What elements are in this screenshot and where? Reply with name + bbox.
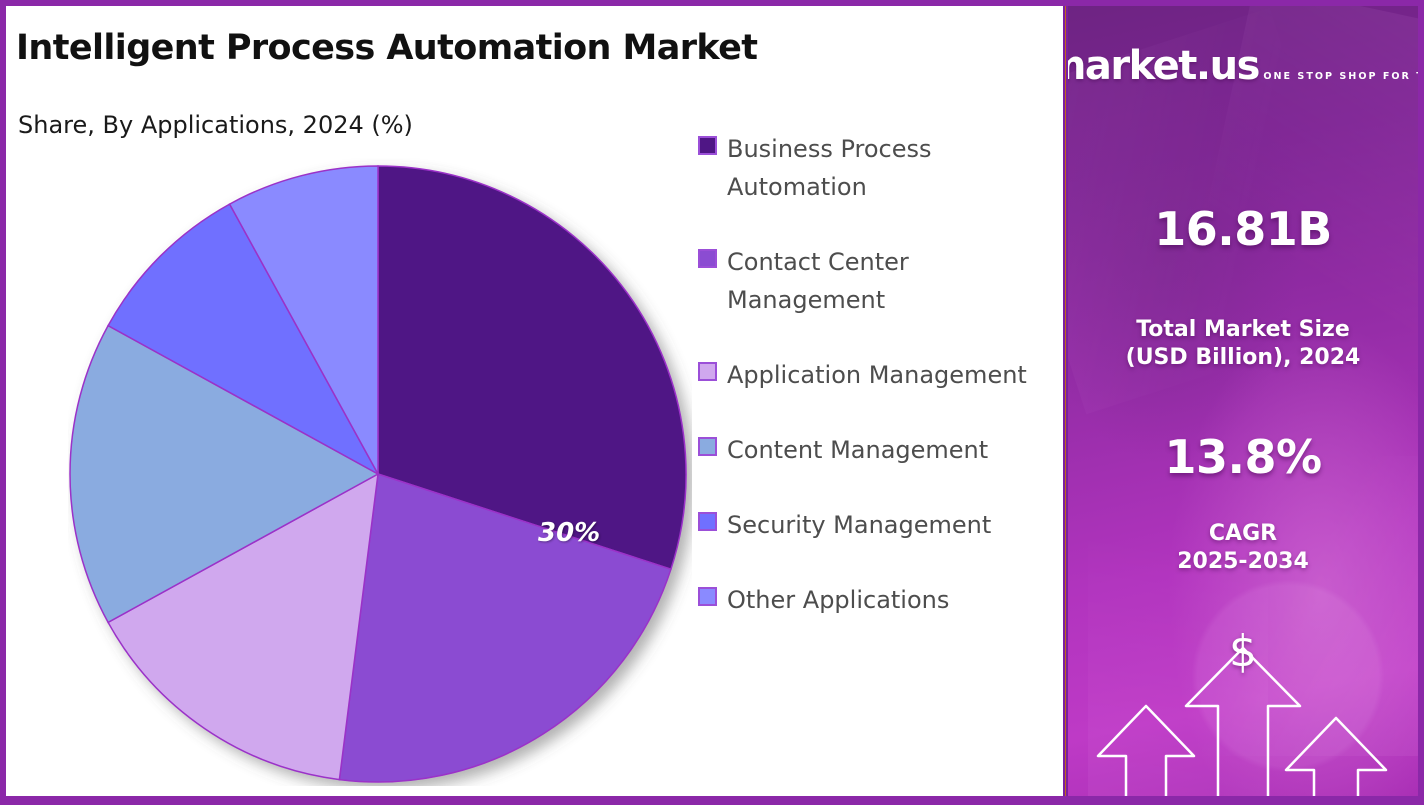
legend-label: Business Process Automation [727, 130, 1057, 206]
stat-caption-line: CAGR [1068, 520, 1418, 548]
stat-caption-line: Total Market Size [1068, 316, 1418, 344]
brand-wordmark: market.us [1068, 43, 1259, 89]
pie-chart-svg [68, 158, 692, 786]
chart-subtitle: Share, By Applications, 2024 (%) [18, 111, 413, 139]
brand-logo[interactable]: market.us ONE STOP SHOP FOR THE REPORTS [1068, 36, 1418, 95]
infographic-frame: Intelligent Process Automation Market Sh… [0, 0, 1424, 805]
brand-tagline: ONE STOP SHOP FOR THE REPORTS [1263, 71, 1418, 82]
legend-swatch-icon [698, 362, 717, 381]
legend-swatch-icon [698, 437, 717, 456]
legend-item-security-management[interactable]: Security Management [698, 506, 1058, 544]
legend-item-business-process-automation[interactable]: Business Process Automation [698, 130, 1058, 206]
legend-swatch-icon [698, 249, 717, 268]
chart-panel: Intelligent Process Automation Market Sh… [6, 6, 1063, 796]
legend-swatch-icon [698, 512, 717, 531]
brand-text-block: market.us ONE STOP SHOP FOR THE REPORTS [1068, 46, 1418, 86]
pie-slices-final [70, 166, 686, 782]
legend-label: Application Management [727, 356, 1027, 394]
legend-item-contact-center-management[interactable]: Contact Center Management [698, 243, 1058, 319]
legend-label: Content Management [727, 431, 988, 469]
page-title: Intelligent Process Automation Market [16, 28, 757, 68]
chart-legend: Business Process Automation Contact Cent… [698, 130, 1058, 656]
legend-label: Other Applications [727, 581, 949, 619]
growth-arrows-icon [1068, 566, 1418, 796]
pie-chart: 30% [68, 158, 692, 786]
stat-market-size-caption: Total Market Size (USD Billion), 2024 [1068, 316, 1418, 372]
legend-swatch-icon [698, 136, 717, 155]
stats-panel: market.us ONE STOP SHOP FOR THE REPORTS … [1068, 6, 1418, 796]
legend-item-content-management[interactable]: Content Management [698, 431, 1058, 469]
legend-item-application-management[interactable]: Application Management [698, 356, 1058, 394]
stat-market-size-value: 16.81B [1068, 202, 1418, 256]
legend-item-other-applications[interactable]: Other Applications [698, 581, 1058, 619]
stat-cagr-value: 13.8% [1068, 430, 1418, 484]
legend-swatch-icon [698, 587, 717, 606]
legend-label: Contact Center Management [727, 243, 1057, 319]
legend-label: Security Management [727, 506, 991, 544]
pie-slice-label-30: 30% [538, 518, 600, 548]
stat-caption-line: (USD Billion), 2024 [1068, 344, 1418, 372]
